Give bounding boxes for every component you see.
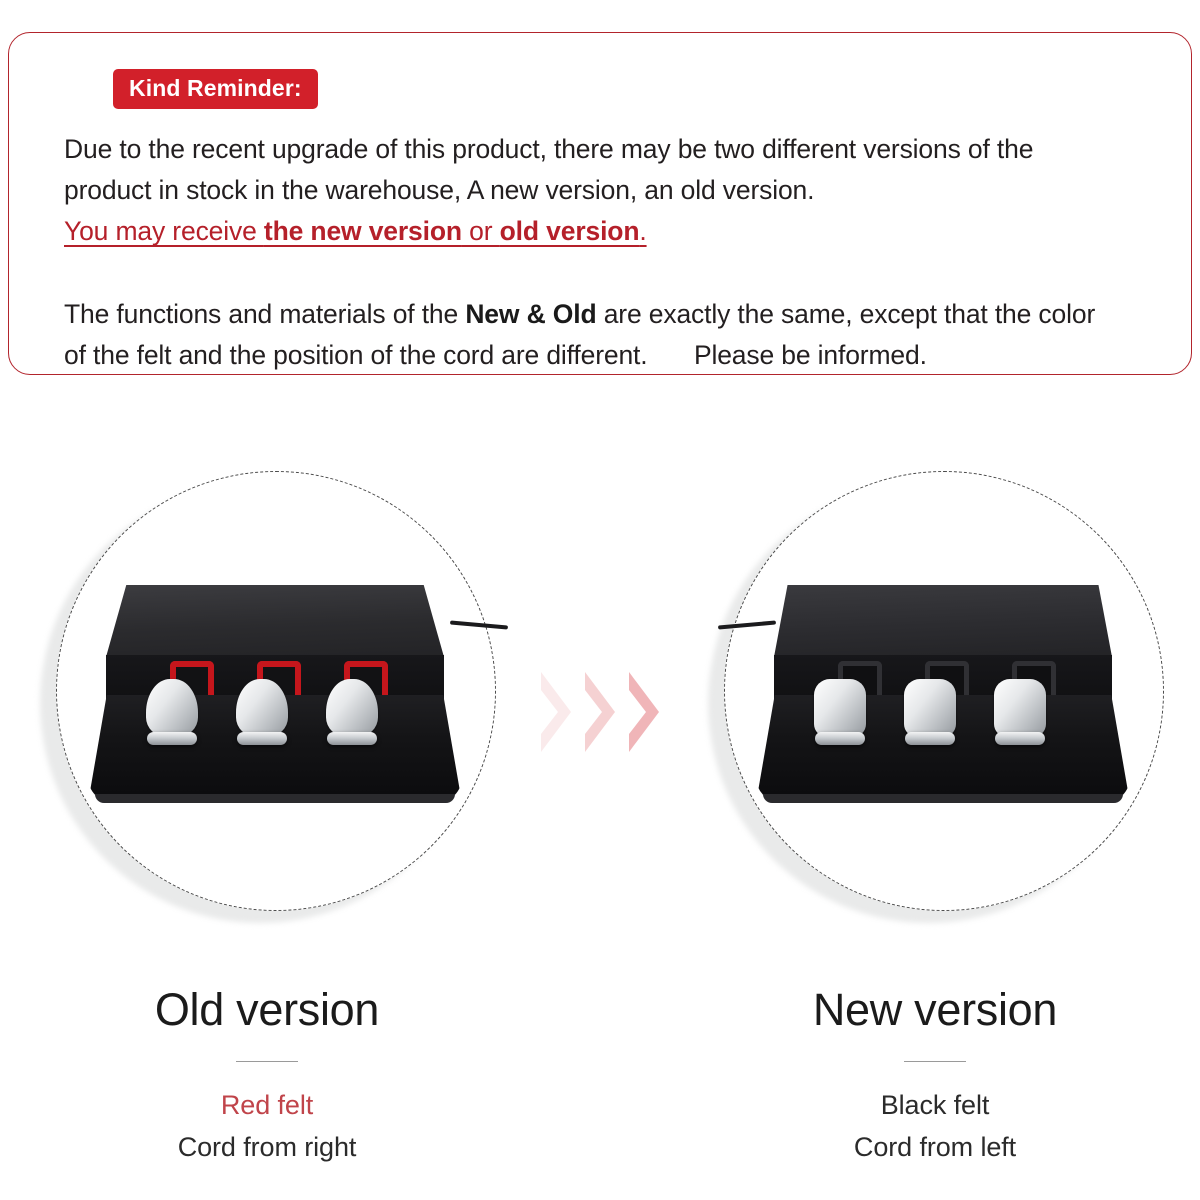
pedal-top-slab-old xyxy=(106,585,444,657)
caption-new-version: New version Black felt Cord from left xyxy=(700,985,1170,1168)
notice-p2-part1: The functions and materials of the xyxy=(64,299,465,329)
pedal-cap xyxy=(236,679,288,737)
pedal-cap xyxy=(994,679,1046,737)
notice-p1-line2: product in stock in the warehouse, A new… xyxy=(64,175,814,205)
pedal-cap xyxy=(814,679,866,737)
pedal-foot xyxy=(147,732,197,745)
caption-old-version: Old version Red felt Cord from right xyxy=(32,985,502,1168)
highlight-prefix: You may receive xyxy=(64,216,264,246)
kind-reminder-badge: Kind Reminder: xyxy=(113,69,318,109)
caption-divider-old xyxy=(236,1061,298,1063)
new-version-felt: Black felt xyxy=(700,1084,1170,1126)
highlight-bold-old: old version xyxy=(500,216,640,246)
notice-paragraph-1: Due to the recent upgrade of this produc… xyxy=(64,129,1169,252)
pedal-middle-new xyxy=(904,679,956,745)
notice-p1-line1: Due to the recent upgrade of this produc… xyxy=(64,134,1033,164)
pedal-left-new xyxy=(814,679,866,745)
paragraph-spacer xyxy=(64,252,1169,294)
pedal-middle-old xyxy=(236,679,288,745)
pedal-foot xyxy=(995,732,1045,745)
new-version-cord: Cord from left xyxy=(700,1126,1170,1168)
new-version-panel xyxy=(700,455,1170,945)
pedal-cap xyxy=(146,679,198,737)
pedal-unit-old xyxy=(84,575,474,825)
notice-body-text: Due to the recent upgrade of this produc… xyxy=(64,129,1169,376)
pedal-top-slab-new xyxy=(774,585,1112,657)
chevron-right-icon-3 xyxy=(629,672,659,752)
highlight-middle: or xyxy=(462,216,500,246)
notice-p2-line2-tail: Please be informed. xyxy=(694,340,927,370)
old-version-title: Old version xyxy=(32,985,502,1035)
chevron-right-triple-icon xyxy=(541,672,681,752)
pedal-foot xyxy=(327,732,377,745)
pedal-right-new xyxy=(994,679,1046,745)
kind-reminder-box: Kind Reminder: Due to the recent upgrade… xyxy=(8,32,1192,375)
pedal-foot xyxy=(905,732,955,745)
pedal-foot xyxy=(815,732,865,745)
highlight-bold-new: the new version xyxy=(264,216,462,246)
pedal-unit-new xyxy=(752,575,1142,825)
pedal-left-old xyxy=(146,679,198,745)
pedal-cap xyxy=(904,679,956,737)
old-version-felt: Red felt xyxy=(32,1084,502,1126)
old-version-cord: Cord from right xyxy=(32,1126,502,1168)
notice-p2-line2: of the felt and the position of the cord… xyxy=(64,340,648,370)
new-version-title: New version xyxy=(700,985,1170,1035)
pedal-right-old xyxy=(326,679,378,745)
chevron-right-icon-1 xyxy=(541,672,571,752)
chevron-right-icon-2 xyxy=(585,672,615,752)
caption-divider-new xyxy=(904,1061,966,1063)
notice-p2-bold: New & Old xyxy=(465,299,596,329)
highlight-suffix: . xyxy=(639,216,646,246)
pedal-cap xyxy=(326,679,378,737)
notice-paragraph-2: The functions and materials of the New &… xyxy=(64,294,1169,376)
notice-highlight-line: You may receive the new version or old v… xyxy=(64,211,647,252)
old-version-panel xyxy=(32,455,502,945)
pedal-foot xyxy=(237,732,287,745)
notice-p2-part2: are exactly the same, except that the co… xyxy=(596,299,1095,329)
